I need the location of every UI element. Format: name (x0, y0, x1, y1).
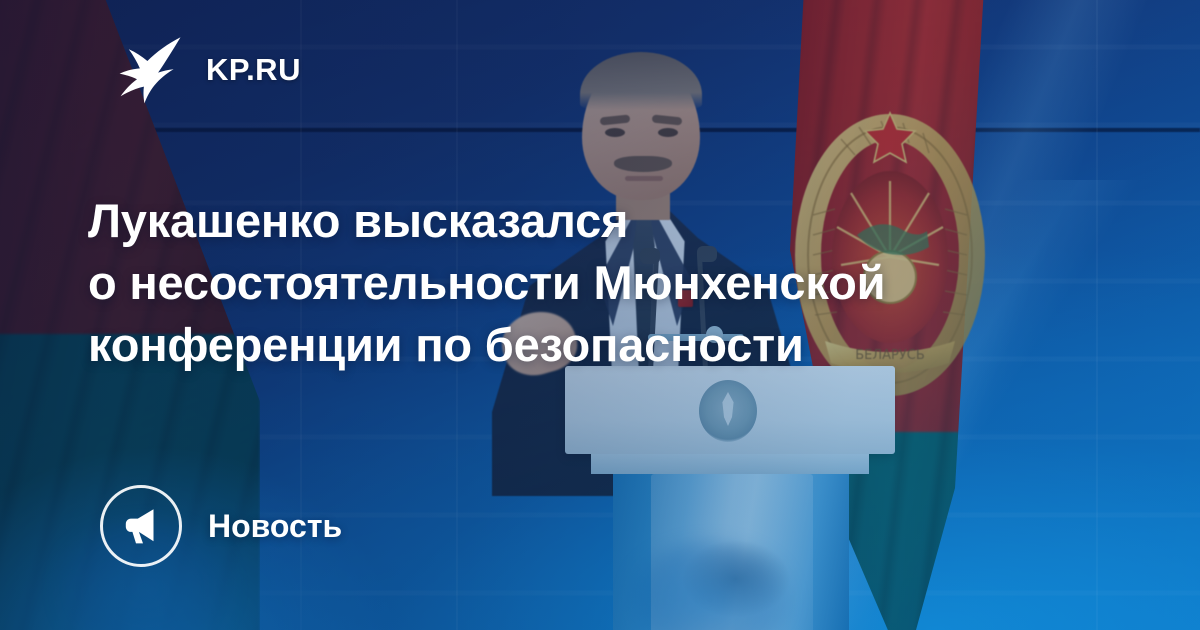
news-badge-circle (100, 485, 182, 567)
news-badge[interactable]: Новость (100, 484, 342, 568)
social-share-card: БЕЛАРУСЬ (0, 0, 1200, 630)
card-content: KP.RU Лукашенко высказался о несостоятел… (0, 0, 1200, 630)
news-badge-label: Новость (208, 510, 342, 542)
brand-name: KP.RU (206, 54, 301, 85)
megaphone-icon (120, 505, 162, 547)
headline: Лукашенко высказался о несостоятельности… (88, 190, 1098, 376)
brand-lockup[interactable]: KP.RU (110, 33, 301, 105)
swallow-bird-icon (110, 34, 184, 104)
headline-line-2: о несостоятельности Мюнхенской (88, 252, 1098, 314)
headline-line-3: конференции по безопасности (88, 314, 1098, 376)
headline-line-1: Лукашенко высказался (88, 190, 1098, 252)
